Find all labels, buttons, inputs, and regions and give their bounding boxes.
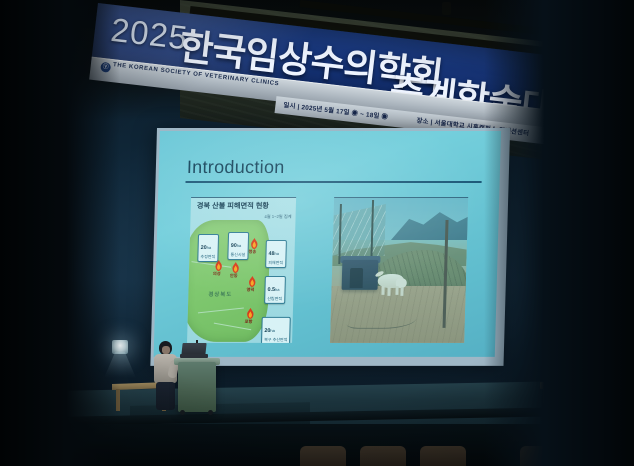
province-label: 경상북도 [208, 290, 232, 298]
podium-caster-icon [180, 410, 185, 415]
fire-callout: 90ha 통신시설 [227, 232, 249, 260]
map-note: 4월 1~2일 집계 [264, 214, 291, 220]
fire-callout: 20ha 복구 추산면적 [261, 317, 291, 343]
fire-callout: 0.5ha 산림면적 [264, 276, 286, 304]
callout-unit: ha [207, 245, 212, 250]
presenter-legs [156, 382, 175, 410]
fire-icon [250, 238, 259, 249]
ceiling-spotlight-icon [442, 2, 451, 15]
fire-icon [231, 262, 240, 273]
conference-hall-photo: 2025 한국임상수의학회 춘계학술대회 Ⓥ THE KOREAN SOCIET… [0, 0, 634, 466]
fire-callout: 20ha 추정면적 [197, 234, 219, 262]
projection-screen-frame: Introduction 경북 산불 피해면적 현황 4월 1~2일 집계 경상… [150, 128, 510, 366]
callout-note: 복구 추산면적 [264, 337, 287, 343]
right-wall-shadow [484, 0, 634, 466]
fire-icon [246, 308, 255, 319]
callout-note: 산림면적 [267, 296, 282, 302]
presenter-face [162, 346, 170, 354]
fire-site-label: 청송 [248, 249, 256, 255]
callout-unit: ha [237, 243, 242, 248]
slide-title: Introduction [187, 157, 285, 178]
podium [178, 362, 216, 412]
audience-chair-back [360, 446, 406, 466]
fire-icon [248, 276, 257, 287]
callout-unit: ha [270, 328, 275, 333]
callout-note: 피해면적 [268, 260, 283, 266]
callout-note: 통신시설 [230, 252, 245, 258]
wildfire-map-panel: 경북 산불 피해면적 현황 4월 1~2일 집계 경상북도 의성 20ha 추정… [187, 197, 296, 343]
wildfire-site-photo [330, 197, 468, 343]
fire-site-label: 영덕 [246, 287, 254, 293]
left-wall-shadow [0, 0, 120, 466]
projection-screen[interactable]: Introduction 경북 산불 피해면적 현황 4월 1~2일 집계 경상… [154, 131, 501, 357]
callout-value: 0.5 [267, 287, 275, 293]
audience-chair-back [300, 446, 346, 466]
projector-color-wash [330, 198, 468, 343]
slide-title-underline [185, 181, 481, 183]
callout-unit: ha [274, 251, 279, 256]
audience-chair-back [420, 446, 466, 466]
callout-unit: ha [275, 287, 280, 292]
podium-caster-icon [208, 410, 213, 415]
map-heading: 경북 산불 피해면적 현황 [197, 201, 269, 211]
fire-site-label: 안동 [230, 273, 238, 279]
fire-site-label: 의성 [213, 271, 221, 277]
presenter-figure [150, 341, 180, 409]
fire-site-label: 포항 [245, 319, 253, 325]
callout-note: 추정면적 [200, 254, 215, 260]
fire-callout: 48ha 피해면적 [265, 240, 287, 268]
